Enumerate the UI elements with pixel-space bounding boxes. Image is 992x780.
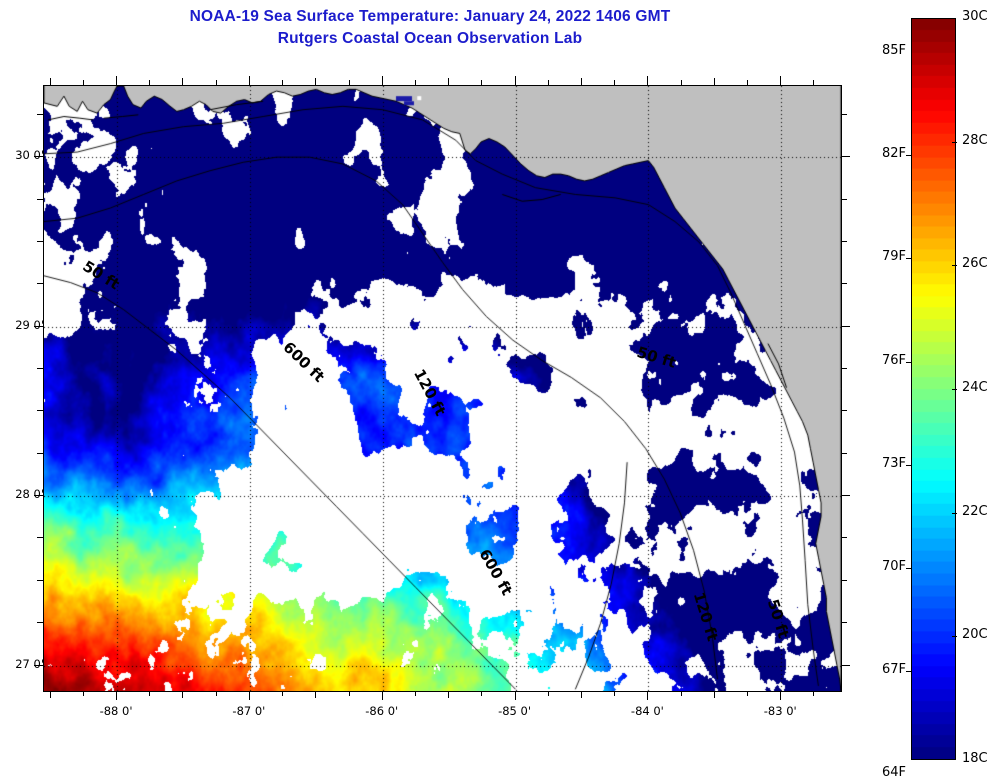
colorbar-tick — [906, 671, 911, 672]
y-axis-tick-right — [841, 283, 847, 284]
x-axis-tick-top — [647, 76, 648, 85]
y-axis-tick-right — [841, 114, 847, 115]
title-line-1: NOAA-19 Sea Surface Temperature: January… — [0, 6, 860, 28]
x-axis-tick — [149, 691, 150, 696]
colorbar-label-celsius: 18C — [962, 751, 992, 766]
y-axis-tick — [37, 283, 43, 284]
y-axis-tick — [37, 114, 43, 115]
x-axis-tick-top — [714, 78, 715, 85]
colorbar — [911, 18, 956, 760]
x-axis-tick — [249, 691, 250, 700]
chart-title: NOAA-19 Sea Surface Temperature: January… — [0, 6, 860, 50]
x-axis-label: -88 0' — [81, 704, 151, 718]
y-axis-tick-right — [841, 199, 847, 200]
y-axis-tick — [37, 368, 43, 369]
x-axis-tick — [780, 691, 781, 700]
y-axis-label: 28 0' — [0, 487, 44, 501]
y-axis-tick-right — [841, 326, 850, 327]
x-axis-tick-top — [415, 80, 416, 85]
x-axis-tick — [614, 691, 615, 696]
y-axis-tick — [37, 453, 43, 454]
colorbar-label-fahrenheit: 76F — [862, 353, 906, 368]
colorbar-tick — [906, 155, 911, 156]
x-axis-tick — [681, 691, 682, 696]
x-axis-tick-top — [780, 76, 781, 85]
x-axis-tick — [647, 691, 648, 700]
colorbar-tick — [906, 465, 911, 466]
colorbar-tick — [952, 265, 957, 266]
y-axis-tick-right — [841, 410, 847, 411]
colorbar-label-fahrenheit: 79F — [862, 249, 906, 264]
colorbar-tick — [952, 142, 957, 143]
y-axis-label: 30 0' — [0, 148, 44, 162]
x-axis-tick-top — [349, 80, 350, 85]
colorbar-label-celsius: 24C — [962, 380, 992, 395]
sst-map-page: NOAA-19 Sea Surface Temperature: January… — [0, 0, 992, 770]
colorbar-label-fahrenheit: 67F — [862, 662, 906, 677]
x-axis-tick — [747, 691, 748, 696]
colorbar-tick — [906, 568, 911, 569]
x-axis-tick — [282, 691, 283, 696]
x-axis-tick — [714, 691, 715, 698]
x-axis-tick-top — [182, 78, 183, 85]
colorbar-label-fahrenheit: 85F — [862, 43, 906, 58]
colorbar-label-celsius: 28C — [962, 133, 992, 148]
colorbar-tick — [952, 513, 957, 514]
x-axis-tick — [581, 691, 582, 698]
y-axis-label: 29 0' — [0, 318, 44, 332]
x-axis-tick-top — [382, 76, 383, 85]
colorbar-label-celsius: 22C — [962, 504, 992, 519]
x-axis-label: -87 0' — [214, 704, 284, 718]
x-axis-tick — [448, 691, 449, 698]
y-axis-tick-right — [841, 368, 847, 369]
y-axis-tick-right — [841, 156, 850, 157]
x-axis-tick — [50, 691, 51, 698]
x-axis-tick — [548, 691, 549, 696]
y-axis-tick — [37, 622, 43, 623]
x-axis-tick-top — [548, 80, 549, 85]
colorbar-label-fahrenheit: 82F — [862, 146, 906, 161]
x-axis-tick — [349, 691, 350, 696]
colorbar-gradient — [912, 19, 955, 759]
x-axis-tick — [515, 691, 516, 700]
x-axis-tick-top — [614, 80, 615, 85]
colorbar-label-fahrenheit: 70F — [862, 559, 906, 574]
x-axis-tick-top — [249, 76, 250, 85]
y-axis-tick-right — [841, 495, 850, 496]
x-axis-tick-top — [282, 80, 283, 85]
x-axis-label: -84 0' — [612, 704, 682, 718]
x-axis-tick — [415, 691, 416, 696]
x-axis-tick — [182, 691, 183, 698]
x-axis-label: -86 0' — [347, 704, 417, 718]
x-axis-tick — [315, 691, 316, 698]
colorbar-tick — [906, 258, 911, 259]
x-axis-tick-top — [747, 80, 748, 85]
x-axis-tick-top — [813, 80, 814, 85]
x-axis-tick-top — [481, 80, 482, 85]
x-axis-tick — [83, 691, 84, 696]
x-axis-label: -85 0' — [480, 704, 550, 718]
colorbar-label-fahrenheit: 73F — [862, 456, 906, 471]
y-axis-tick-right — [841, 453, 847, 454]
x-axis-tick-top — [681, 80, 682, 85]
x-axis-tick — [216, 691, 217, 696]
sst-map-canvas — [44, 86, 841, 691]
x-axis-label: -83 0' — [745, 704, 815, 718]
y-axis-tick-right — [841, 622, 847, 623]
map-plot-area[interactable] — [43, 85, 842, 692]
x-axis-tick-top — [216, 80, 217, 85]
y-axis-tick — [37, 410, 43, 411]
x-axis-tick-top — [83, 80, 84, 85]
x-axis-tick — [813, 691, 814, 696]
colorbar-tick — [906, 362, 911, 363]
x-axis-tick — [382, 691, 383, 700]
y-axis-label: 27 0' — [0, 657, 44, 671]
y-axis-tick — [37, 537, 43, 538]
x-axis-tick-top — [448, 78, 449, 85]
x-axis-tick-top — [515, 76, 516, 85]
y-axis-tick-right — [841, 537, 847, 538]
x-axis-tick-top — [116, 76, 117, 85]
x-axis-tick-top — [315, 78, 316, 85]
colorbar-label-fahrenheit: 64F — [862, 765, 906, 780]
x-axis-tick — [481, 691, 482, 696]
colorbar-tick — [952, 389, 957, 390]
colorbar-label-celsius: 20C — [962, 627, 992, 642]
colorbar-label-celsius: 26C — [962, 256, 992, 271]
y-axis-tick-right — [841, 580, 847, 581]
x-axis-tick-top — [149, 80, 150, 85]
y-axis-tick-right — [841, 241, 847, 242]
y-axis-tick — [37, 580, 43, 581]
x-axis-tick-top — [50, 78, 51, 85]
title-line-2: Rutgers Coastal Ocean Observation Lab — [0, 28, 860, 50]
y-axis-tick — [37, 241, 43, 242]
y-axis-tick-right — [841, 665, 850, 666]
x-axis-tick — [116, 691, 117, 700]
x-axis-tick-top — [581, 78, 582, 85]
colorbar-label-celsius: 30C — [962, 9, 992, 24]
y-axis-tick — [37, 199, 43, 200]
colorbar-tick — [952, 636, 957, 637]
